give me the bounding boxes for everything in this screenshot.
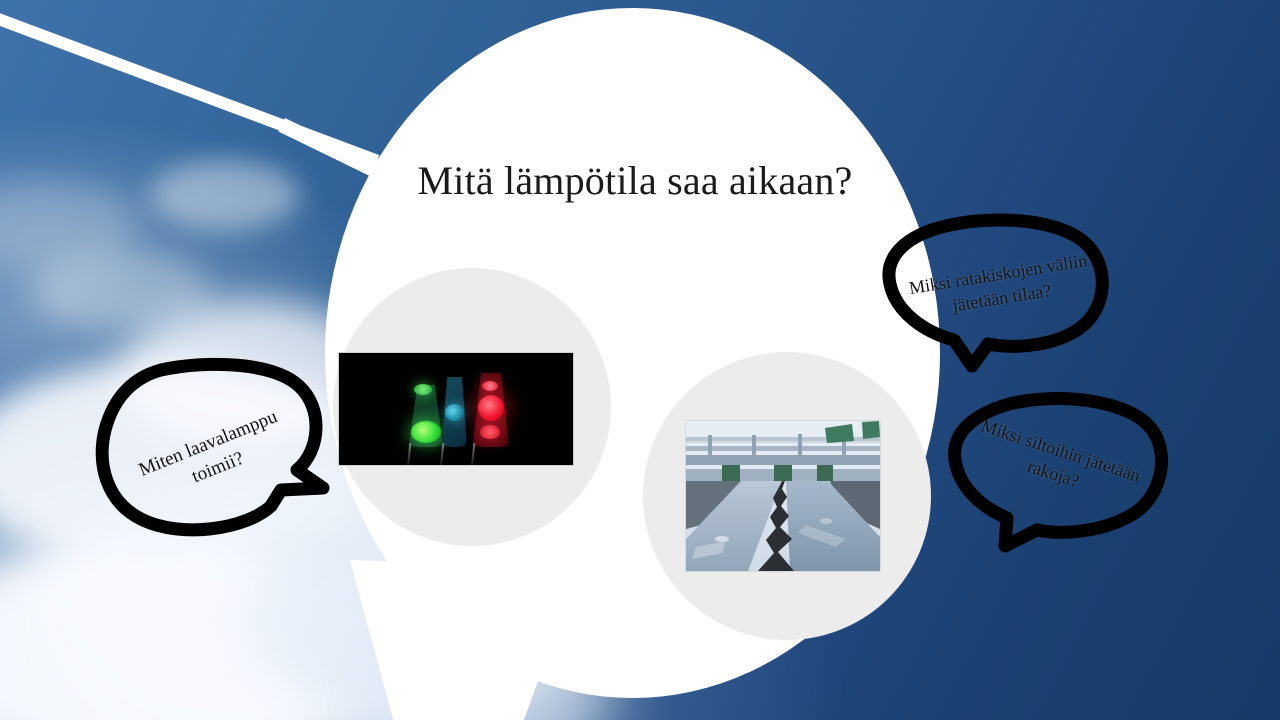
page-title: Mitä lämpötila saa aikaan?: [390, 150, 880, 212]
lava-lamps-image: [338, 352, 574, 466]
speech-bubble-rail-tracks[interactable]: Miksi ratakiskojen väliin jätetään tilaa…: [880, 214, 1115, 389]
speech-bubble-lava-lamp[interactable]: Miten laavalamppu toimii?: [95, 358, 330, 558]
presentation-slide: Mitä lämpötila saa aikaan?: [0, 0, 1280, 720]
speech-bubble-bridge-gaps[interactable]: Miksi siltoihin jätetään rakoja?: [945, 392, 1170, 567]
bridge-expansion-joint-image: [685, 420, 881, 572]
